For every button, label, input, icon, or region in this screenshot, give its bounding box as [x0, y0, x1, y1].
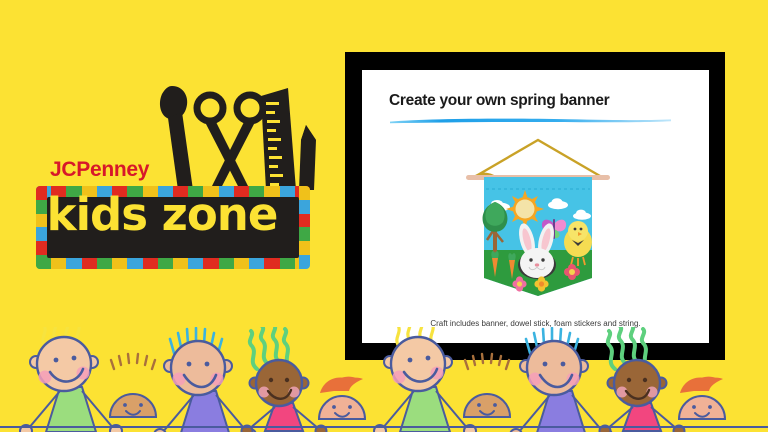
- brick-border-bottom: [36, 257, 310, 269]
- brick-segment: [158, 257, 173, 269]
- slide-title: Create your own spring banner: [389, 92, 609, 110]
- brick-segment: [234, 257, 249, 269]
- brick-segment: [299, 255, 310, 269]
- list-item: [110, 354, 156, 417]
- brick-segment: [143, 257, 158, 269]
- list-item: [464, 354, 510, 417]
- kids-zone-promo-screen: JCPenney kids zone Create your own sprin…: [0, 0, 768, 432]
- brick-segment: [127, 257, 142, 269]
- brick-segment: [82, 257, 97, 269]
- list-item: [679, 377, 725, 419]
- paintbrush-icon: [160, 86, 193, 190]
- list-item: [319, 377, 365, 419]
- brick-segment: [173, 257, 188, 269]
- brick-segment: [97, 257, 112, 269]
- jcpenney-kids-zone-logo: JCPenney kids zone: [32, 78, 322, 283]
- list-item: [20, 327, 122, 432]
- brick-segment: [36, 255, 47, 269]
- scissors-icon: [197, 95, 263, 190]
- brick-segment: [280, 257, 295, 269]
- pencil-icon: [299, 125, 316, 190]
- brick-segment: [66, 257, 81, 269]
- list-item: [600, 327, 685, 432]
- brick-segment: [264, 257, 279, 269]
- brick-segment: [51, 257, 66, 269]
- list-item: [154, 328, 256, 432]
- art-supplies-illustration: [148, 78, 318, 196]
- brick-segment: [299, 241, 310, 255]
- kids-border-illustration: [0, 327, 768, 432]
- brick-border-right: [299, 186, 310, 269]
- brick-segment: [299, 227, 310, 241]
- brick-segment: [188, 257, 203, 269]
- brick-segment: [299, 214, 310, 228]
- brick-segment: [249, 257, 264, 269]
- banner-string: [476, 140, 600, 179]
- brick-segment: [219, 257, 234, 269]
- brick-segment: [112, 257, 127, 269]
- kids-zone-badge: kids zone: [36, 186, 310, 269]
- title-underline-brushstroke: [388, 117, 673, 124]
- brick-segment: [299, 186, 310, 200]
- slide-white-card: Create your own spring banner: [362, 70, 709, 343]
- spring-banner-craft-photo: [454, 132, 622, 310]
- list-item: [510, 328, 612, 432]
- slide-black-frame: Create your own spring banner: [345, 52, 725, 360]
- list-item: [242, 327, 327, 432]
- kids-zone-label: kids zone: [36, 186, 288, 247]
- brick-segment: [299, 200, 310, 214]
- ruler-icon: [261, 88, 296, 190]
- brick-segment: [203, 257, 218, 269]
- list-item: [374, 327, 476, 432]
- jcpenney-wordmark: JCPenney: [50, 158, 149, 182]
